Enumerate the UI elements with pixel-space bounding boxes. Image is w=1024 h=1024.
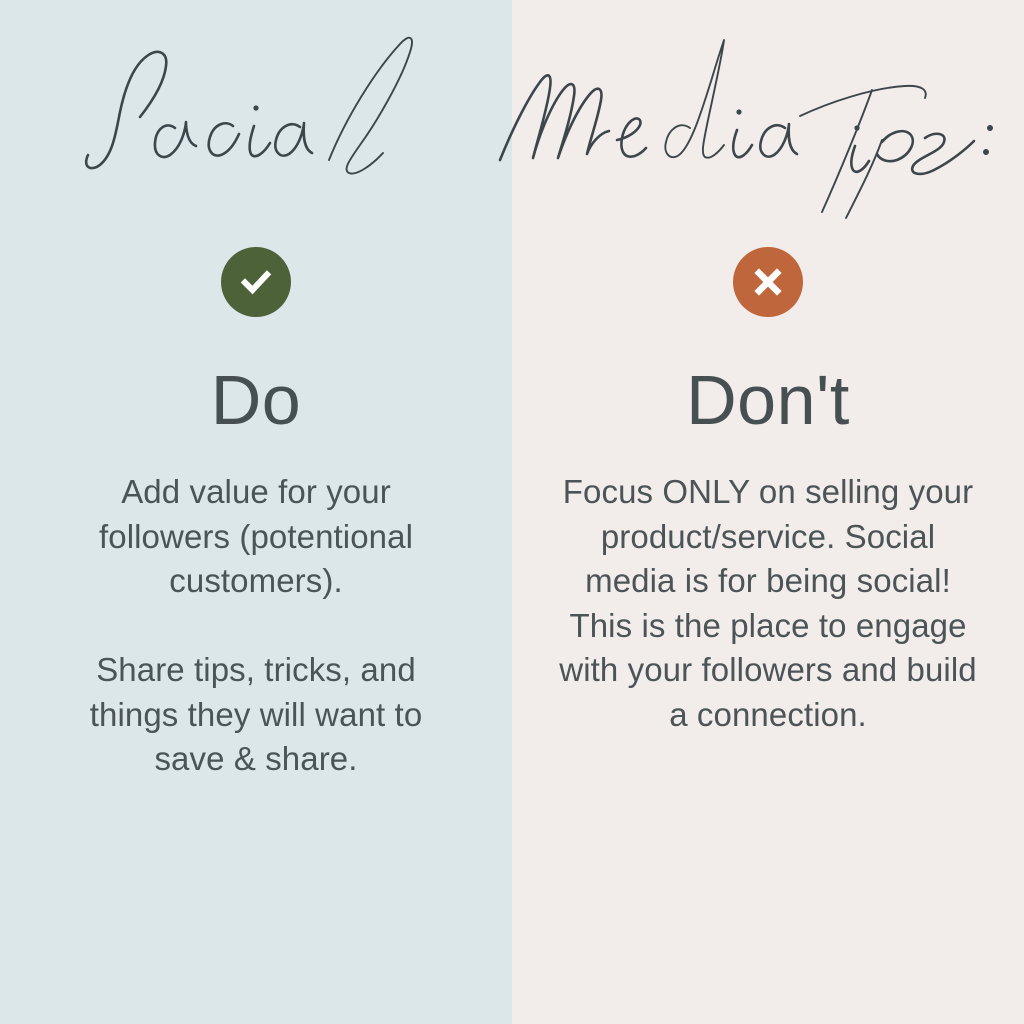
check-circle-icon <box>221 247 291 317</box>
body-dont: Focus ONLY on selling your product/servi… <box>512 470 1024 737</box>
body-do-paragraph-2: Share tips, tricks, and things they will… <box>56 648 456 782</box>
heading-do: Do <box>0 358 512 442</box>
body-do: Add value for your followers (potentiona… <box>0 470 512 782</box>
body-dont-paragraph-1: Focus ONLY on selling your product/servi… <box>558 470 978 737</box>
column-do: Do Add value for your followers (potenti… <box>0 0 512 1024</box>
column-dont: Don't Focus ONLY on selling your product… <box>512 0 1024 1024</box>
x-circle-icon <box>733 247 803 317</box>
social-media-tips-graphic: Social Media Tips: <box>0 0 1024 1024</box>
heading-dont: Don't <box>512 358 1024 442</box>
body-do-paragraph-1: Add value for your followers (potentiona… <box>56 470 456 604</box>
